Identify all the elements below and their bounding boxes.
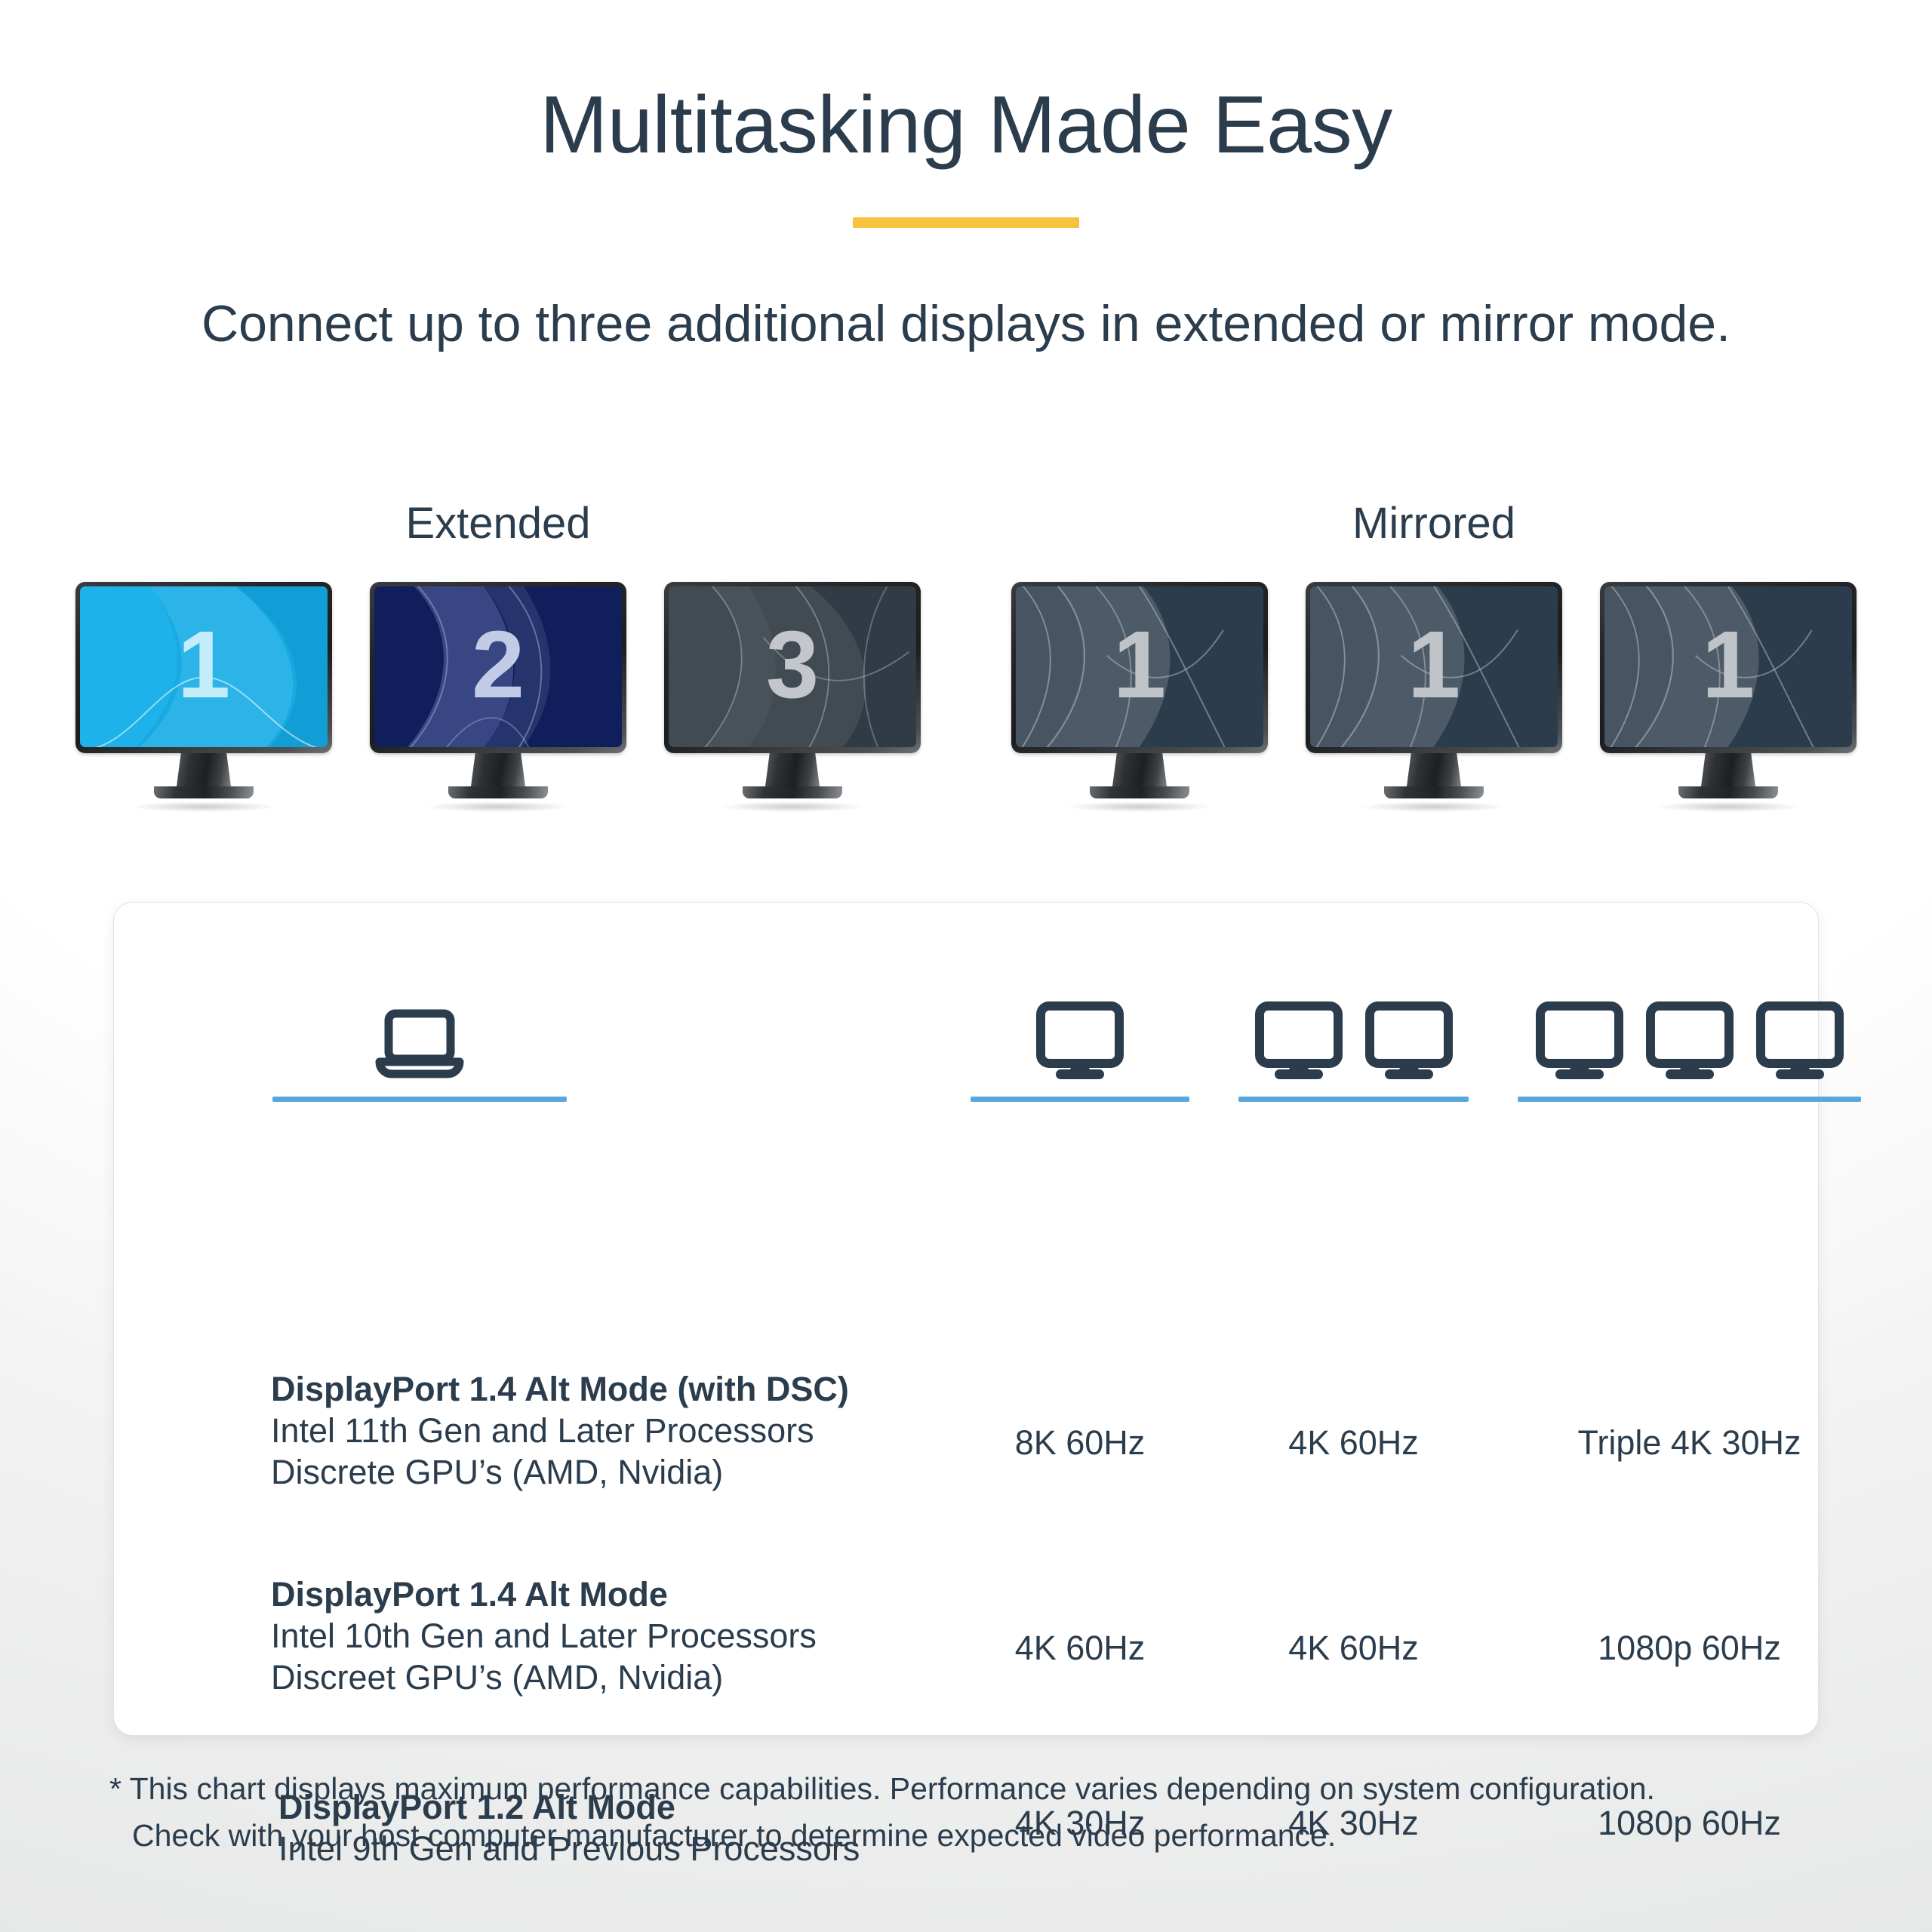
footnote-line-2: Check with your host computer manufactur… — [109, 1813, 1845, 1860]
monitor-shadow — [426, 801, 570, 812]
laptop-icon-group — [375, 982, 464, 1080]
monitor-foot — [448, 786, 548, 798]
monitor-row-extended: 1 2 — [45, 582, 951, 812]
spec-col-underline — [1238, 1097, 1469, 1102]
footnote-line-1: * This chart displays maximum performanc… — [109, 1771, 1655, 1806]
spec-value-one-display: 8K 60Hz — [971, 1423, 1189, 1463]
monitor-neck — [765, 753, 820, 786]
page-subtitle: Connect up to three additional displays … — [0, 294, 1932, 353]
monitor-neck — [1407, 753, 1461, 786]
monitor-icon — [1252, 1001, 1346, 1080]
spec-value-three-displays: 1080p 60Hz — [1518, 1629, 1861, 1668]
monitor-number: 3 — [669, 586, 916, 747]
monitor-mirrored-1: 1 — [1011, 582, 1268, 812]
monitor-screen: 3 — [669, 586, 916, 747]
monitor-bezel: 1 — [75, 582, 332, 753]
monitor-group-label-extended: Extended — [45, 498, 951, 549]
monitor-neck — [177, 753, 231, 786]
spec-value-one-display: 4K 60Hz — [971, 1629, 1189, 1668]
monitor-icon — [1643, 1001, 1737, 1080]
monitor-shadow — [132, 801, 275, 812]
monitor-icon — [1033, 1001, 1127, 1080]
monitor-mirrored-3: 1 — [1600, 582, 1857, 812]
monitor-bezel: 2 — [370, 582, 626, 753]
monitor-row-mirrored: 1 — [981, 582, 1887, 812]
spec-col-header-host-device — [272, 982, 567, 1102]
monitor-foot — [1090, 786, 1189, 798]
monitor-screen: 1 — [1016, 586, 1263, 747]
monitor-screen: 1 — [1604, 586, 1852, 747]
monitor-foot — [154, 786, 254, 798]
monitor-screen: 1 — [80, 586, 328, 747]
infographic-canvas: Multitasking Made Easy Connect up to thr… — [0, 0, 1932, 1932]
title-underline-rule — [853, 217, 1079, 228]
spec-col-header-three-displays — [1518, 982, 1861, 1102]
spec-value-two-displays: 4K 60Hz — [1238, 1423, 1469, 1463]
monitor-bezel: 1 — [1306, 582, 1562, 753]
spec-mode-desc-line2: Discrete GPU’s (AMD, Nvidia) — [271, 1452, 973, 1494]
spec-col-underline — [971, 1097, 1189, 1102]
spec-mode-name: DisplayPort 1.4 Alt Mode (with DSC) — [271, 1369, 973, 1411]
monitor-number: 1 — [80, 586, 328, 747]
spec-col-underline — [1518, 1097, 1861, 1102]
monitor-group-label-mirrored: Mirrored — [981, 498, 1887, 549]
monitor-icon — [1362, 1001, 1456, 1080]
monitor-icon-group-1 — [1033, 982, 1127, 1080]
monitor-icon — [1533, 1001, 1626, 1080]
monitor-number: 1 — [1016, 586, 1263, 747]
spec-col-underline — [272, 1097, 567, 1102]
monitor-shadow — [721, 801, 864, 812]
monitor-neck — [471, 753, 525, 786]
monitor-group-extended: Extended 1 — [45, 498, 951, 812]
monitor-neck — [1701, 753, 1755, 786]
monitor-number: 1 — [1604, 586, 1852, 747]
monitor-screen: 2 — [374, 586, 622, 747]
monitor-bezel: 3 — [664, 582, 921, 753]
spec-value-three-displays: Triple 4K 30Hz — [1518, 1423, 1861, 1463]
spec-mode-desc-line1: Intel 10th Gen and Later Processors — [271, 1616, 973, 1657]
monitor-icon — [1753, 1001, 1847, 1080]
monitor-extended-3: 3 — [664, 582, 921, 812]
monitor-shadow — [1657, 801, 1800, 812]
spec-mode-name: DisplayPort 1.4 Alt Mode — [271, 1574, 973, 1616]
monitor-number: 1 — [1310, 586, 1558, 747]
monitor-mirrored-2: 1 — [1306, 582, 1562, 812]
monitor-neck — [1112, 753, 1167, 786]
spec-mode-desc-line1: Intel 11th Gen and Later Processors — [271, 1411, 973, 1452]
spec-col-header-two-displays — [1238, 982, 1469, 1102]
monitor-icon-group-3 — [1533, 982, 1847, 1080]
spec-row-label: DisplayPort 1.4 Alt Mode (with DSC) Inte… — [271, 1369, 973, 1494]
spec-table-header — [114, 903, 1818, 1129]
monitor-foot — [1384, 786, 1484, 798]
monitor-foot — [1678, 786, 1778, 798]
spec-value-two-displays: 4K 60Hz — [1238, 1629, 1469, 1668]
monitor-foot — [743, 786, 842, 798]
laptop-icon — [375, 1008, 464, 1080]
monitor-shadow — [1362, 801, 1506, 812]
monitor-shadow — [1068, 801, 1211, 812]
footnote: * This chart displays maximum performanc… — [109, 1766, 1845, 1859]
spec-row-label: DisplayPort 1.4 Alt Mode Intel 10th Gen … — [271, 1574, 973, 1699]
monitor-group-mirrored: Mirrored 1 — [981, 498, 1887, 812]
monitor-bezel: 1 — [1011, 582, 1268, 753]
spec-mode-desc-line2: Discreet GPU’s (AMD, Nvidia) — [271, 1657, 973, 1699]
monitor-screen: 1 — [1310, 586, 1558, 747]
monitor-extended-1: 1 — [75, 582, 332, 812]
monitor-icon-group-2 — [1252, 982, 1456, 1080]
monitor-number: 2 — [374, 586, 622, 747]
spec-comparison-card: DisplayPort 1.4 Alt Mode (with DSC) Inte… — [113, 902, 1819, 1736]
spec-col-header-one-display — [971, 982, 1189, 1102]
monitor-bezel: 1 — [1600, 582, 1857, 753]
monitor-extended-2: 2 — [370, 582, 626, 812]
page-title: Multitasking Made Easy — [0, 82, 1932, 167]
